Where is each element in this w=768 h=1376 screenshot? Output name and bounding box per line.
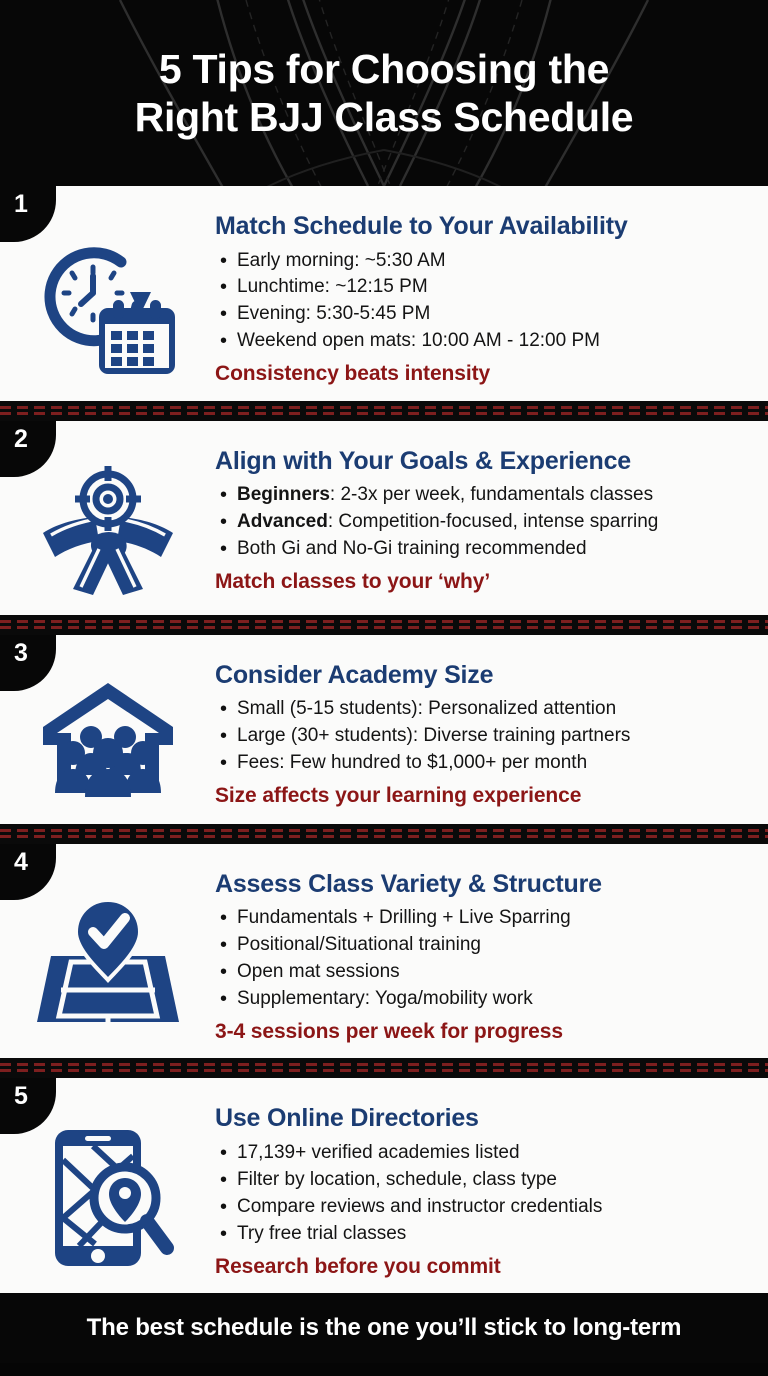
tip-card-4[interactable]: 4 Assess Class Variety & Structure Funda… <box>0 844 768 1059</box>
list-item: Small (5-15 students): Personalized atte… <box>215 696 750 723</box>
tip-content-3: Consider Academy Size Small (5-15 studen… <box>215 649 750 809</box>
stitched-divider <box>0 401 768 421</box>
stitched-divider <box>0 824 768 844</box>
footer-banner: The best schedule is the one you’ll stic… <box>0 1293 768 1363</box>
tip-title-3: Consider Academy Size <box>215 661 750 690</box>
tip-takeaway-1: Consistency beats intensity <box>215 361 750 386</box>
footer-tagline: The best schedule is the one you’ll stic… <box>87 1314 682 1342</box>
list-item: Try free trial classes <box>215 1221 750 1248</box>
list-item: Lunchtime: ~12:15 PM <box>215 274 750 301</box>
header-banner: 5 Tips for Choosing the Right BJJ Class … <box>0 0 768 186</box>
list-item: Weekend open mats: 10:00 AM - 12:00 PM <box>215 328 750 355</box>
list-item: Compare reviews and instructor credentia… <box>215 1194 750 1221</box>
list-item: Evening: 5:30-5:45 PM <box>215 301 750 328</box>
list-item: Early morning: ~5:30 AM <box>215 248 750 275</box>
tip-card-3[interactable]: 3 Consider Academy Size Small (5-15 <box>0 635 768 824</box>
tip-card-2[interactable]: 2 <box>0 421 768 615</box>
page-title: 5 Tips for Choosing the Right BJJ Class … <box>31 45 738 142</box>
list-item: Fees: Few hundred to $1,000+ per month <box>215 750 750 777</box>
tip-takeaway-3: Size affects your learning experience <box>215 783 750 808</box>
tip-bullets-1: Early morning: ~5:30 AM Lunchtime: ~12:1… <box>215 248 750 356</box>
tip-bullets-3: Small (5-15 students): Personalized atte… <box>215 696 750 777</box>
tip-card-1[interactable]: 1 <box>0 186 768 401</box>
stitched-divider <box>0 1058 768 1078</box>
list-item: Positional/Situational training <box>215 932 750 959</box>
tip-title-5: Use Online Directories <box>215 1104 750 1133</box>
list-item: Advanced: Competition-focused, intense s… <box>215 509 750 536</box>
list-item: Large (30+ students): Diverse training p… <box>215 723 750 750</box>
tip-takeaway-5: Research before you commit <box>215 1254 750 1279</box>
page-title-line2: Right BJJ Class Schedule <box>135 94 634 140</box>
tip-content-1: Match Schedule to Your Availability Earl… <box>215 200 750 387</box>
tip-takeaway-2: Match classes to your ‘why’ <box>215 569 750 594</box>
page-title-line1: 5 Tips for Choosing the <box>159 46 609 92</box>
tip-bullets-2: Beginners: 2-3x per week, fundamentals c… <box>215 482 750 563</box>
list-item: Fundamentals + Drilling + Live Sparring <box>215 905 750 932</box>
tip-content-5: Use Online Directories 17,139+ verified … <box>215 1092 750 1279</box>
tip-title-1: Match Schedule to Your Availability <box>215 212 750 241</box>
tip-bullets-5: 17,139+ verified academies listed Filter… <box>215 1140 750 1248</box>
tip-content-4: Assess Class Variety & Structure Fundame… <box>215 858 750 1045</box>
stitched-divider <box>0 615 768 635</box>
list-item: Open mat sessions <box>215 959 750 986</box>
tip-bullets-4: Fundamentals + Drilling + Live Sparring … <box>215 905 750 1013</box>
tip-title-2: Align with Your Goals & Experience <box>215 447 750 476</box>
tip-title-4: Assess Class Variety & Structure <box>215 870 750 899</box>
list-item: Both Gi and No-Gi training recommended <box>215 536 750 563</box>
list-item: Beginners: 2-3x per week, fundamentals c… <box>215 482 750 509</box>
list-item: Filter by location, schedule, class type <box>215 1167 750 1194</box>
tip-card-5[interactable]: 5 Use Online Directories 17,139+ verifie… <box>0 1078 768 1293</box>
tip-takeaway-4: 3-4 sessions per week for progress <box>215 1019 750 1044</box>
tip-content-2: Align with Your Goals & Experience Begin… <box>215 435 750 595</box>
list-item: Supplementary: Yoga/mobility work <box>215 986 750 1013</box>
list-item: 17,139+ verified academies listed <box>215 1140 750 1167</box>
